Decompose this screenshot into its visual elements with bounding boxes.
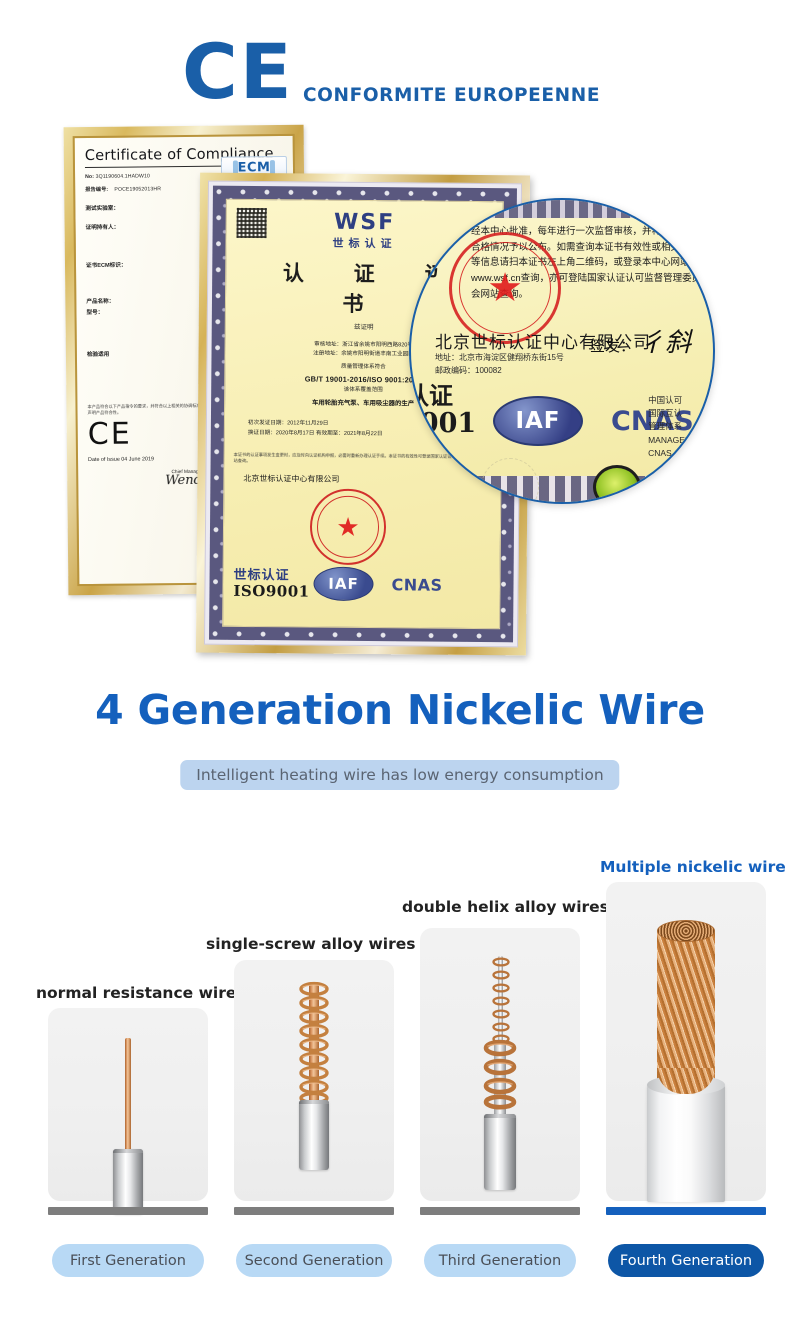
magnifier-iso-number: 9001 [409, 408, 476, 439]
certificates-section: Certificate of Compliance No: 3Q1190604.… [0, 118, 800, 628]
wire-card-2 [234, 960, 394, 1201]
wire-2-ferrule [299, 1100, 329, 1170]
wire-label-2: single-screw alloy wires [206, 935, 415, 953]
magnifier-address: 地址：北京市海淀区健翔桥东街15号 邮政编码：100082 [435, 352, 564, 378]
cnas-logo: CNAS [391, 575, 442, 594]
seal-star-icon: ★ [336, 514, 360, 540]
wire-label-1: normal resistance wire [36, 984, 236, 1002]
wire-2-helix-coil-icon [297, 980, 331, 1104]
wire-base-3 [420, 1207, 580, 1215]
red-seal-stamp: ★ [310, 489, 387, 566]
page-subtitle-pill: Intelligent heating wire has low energy … [180, 760, 619, 790]
magnifier-cnas-en: MANAGEMENT [648, 434, 709, 447]
cert1-ref-label: 报告编号: [85, 187, 108, 193]
cert1-no-label: No: [85, 174, 94, 180]
magnifier-signature-icon: 彳斜 [639, 328, 691, 358]
wire-card-1 [48, 1008, 208, 1201]
magnifier-address-line1: 地址：北京市海淀区健翔桥东街15号 [435, 352, 564, 365]
wire-card-3 [420, 928, 580, 1201]
generation-pill-4[interactable]: Fourth Generation [608, 1244, 764, 1277]
magnifier-side-char: 书 [417, 254, 438, 284]
cert1-no-value: 3Q1190604.1HADW10 [96, 173, 150, 180]
generation-pill-1[interactable]: First Generation [52, 1244, 204, 1277]
product-detail-page: CE CONFORMITE EUROPEENNE Certificate of … [0, 0, 800, 1317]
faint-stamp-left-icon [481, 458, 539, 504]
ce-subtitle: CONFORMITE EUROPEENNE [303, 85, 600, 106]
wire-card-4 [606, 882, 766, 1201]
wire-1-ferrule [113, 1149, 143, 1214]
magnifier-cnas-cn1: 中国认可 [648, 394, 709, 407]
cert2-iso-label: ISO9001 [233, 582, 309, 601]
hologram-sticker-icon [593, 465, 641, 504]
ce-header: CE CONFORMITE EUROPEENNE [0, 18, 800, 110]
cert1-ref-value: POCE19052013HR [114, 186, 161, 192]
magnifier-seal-star-icon: ★ [487, 268, 523, 308]
magnifier-iaf-logo: IAF [493, 396, 583, 446]
generation-pill-3[interactable]: Third Generation [424, 1244, 576, 1277]
wire-generation-comparison: normal resistance wire single-screw allo… [0, 840, 800, 1317]
wire-3-double-helix-icon [482, 1038, 518, 1110]
generation-pill-2[interactable]: Second Generation [236, 1244, 392, 1277]
wire-3-ferrule [484, 1114, 516, 1190]
wire-label-4: Multiple nickelic wire [600, 858, 786, 876]
iaf-logo: IAF [313, 567, 373, 602]
magnifier-address-line2: 邮政编码：100082 [435, 365, 564, 378]
wire-3-fine-helix-icon [489, 954, 513, 1046]
page-title: 4 Generation Nickelic Wire [0, 686, 800, 734]
magnifier-sign-label: 签发： [590, 338, 635, 355]
magnifier-detail-circle: 经本中心批准，每年进行一次监督审核，并将监督审核合格情况予以公布。如需查询本证书… [409, 198, 715, 504]
magnifier-cnas-cn3: 管理体系 [648, 420, 709, 433]
magnifier-signature-block: 签发：彳斜 [590, 322, 691, 359]
wire-base-4 [606, 1207, 766, 1215]
wire-4-copper-cross-section [657, 920, 715, 942]
wire-label-3: double helix alloy wires [402, 898, 609, 916]
wire-base-1 [48, 1207, 208, 1215]
magnifier-renzheng-text: 认证 [409, 376, 453, 411]
cert2-iso-label-cn: 世标认证 [234, 568, 310, 582]
magnifier-cnas-details: 中国认可 国际互认 管理体系 MANAGEMENT CNAS C038 [648, 394, 709, 460]
magnifier-top-ornament [411, 200, 713, 218]
cert2-iso-block: 世标认证 ISO9001 [233, 568, 309, 600]
ce-mark-logo: CE [182, 34, 294, 110]
wire-base-2 [234, 1207, 394, 1215]
cert2-accreditation-badges: IAF CNAS [313, 567, 442, 602]
wire-4-white-jacket [647, 1082, 725, 1202]
magnifier-bottom-stamps [481, 458, 715, 504]
faint-stamp-right-icon [695, 458, 715, 504]
magnifier-cnas-cn2: 国际互认 [648, 407, 709, 420]
qr-code-icon [237, 208, 267, 238]
